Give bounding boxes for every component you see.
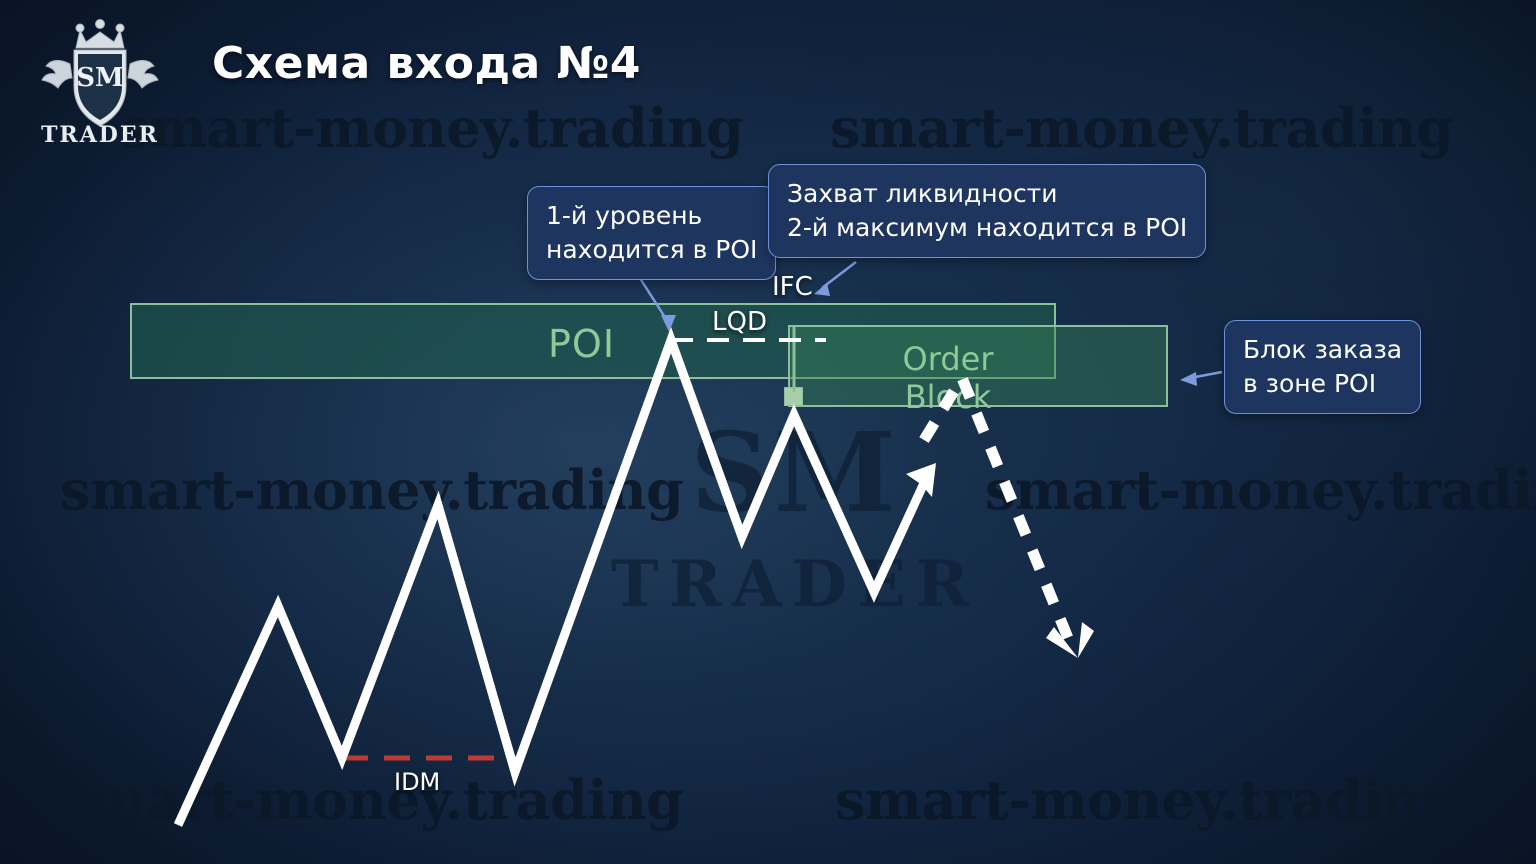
order-block-entry-marker [784, 387, 803, 406]
watermark-text: smart-money.trading [120, 96, 743, 160]
poi-zone-label: POI [548, 322, 615, 366]
callout-first-level[interactable]: 1-й уровень находится в POI [527, 186, 776, 280]
callout-order-block[interactable]: Блок заказа в зоне POI [1224, 320, 1421, 414]
watermark-text: smart-money.trading [835, 768, 1458, 832]
watermark-logo-initials: SM [690, 408, 899, 537]
sweep-callout-arrowhead [814, 283, 830, 296]
lqd-label: LQD [712, 307, 767, 337]
callout-liquidity-sweep[interactable]: Захват ликвидности 2-й максимум находитс… [768, 164, 1206, 258]
logo-word: TRADER [41, 122, 159, 148]
brand-logo: SM TRADER [20, 8, 180, 148]
projected-down-arrowhead-2 [1078, 622, 1094, 658]
diagram-canvas: smart-money.trading smart-money.trading … [0, 0, 1536, 864]
page-title: Схема входа №4 [212, 38, 641, 89]
projected-down-arrowhead [1046, 627, 1078, 658]
sweep-callout-pointer [822, 262, 856, 288]
ob-callout-pointer [1190, 372, 1222, 378]
watermark-text: smart-money.trading [985, 458, 1536, 522]
order-block-zone-label: Order Block [898, 340, 998, 416]
watermark-text: smart-money.trading [60, 768, 683, 832]
ifc-label: IFC [772, 272, 813, 302]
ob-callout-arrowhead [1180, 372, 1197, 386]
idm-label: IDM [394, 768, 440, 796]
watermark-logo-word: TRADER [611, 547, 979, 622]
watermark-text: smart-money.trading [830, 96, 1453, 160]
logo-initials: SM [76, 63, 124, 93]
